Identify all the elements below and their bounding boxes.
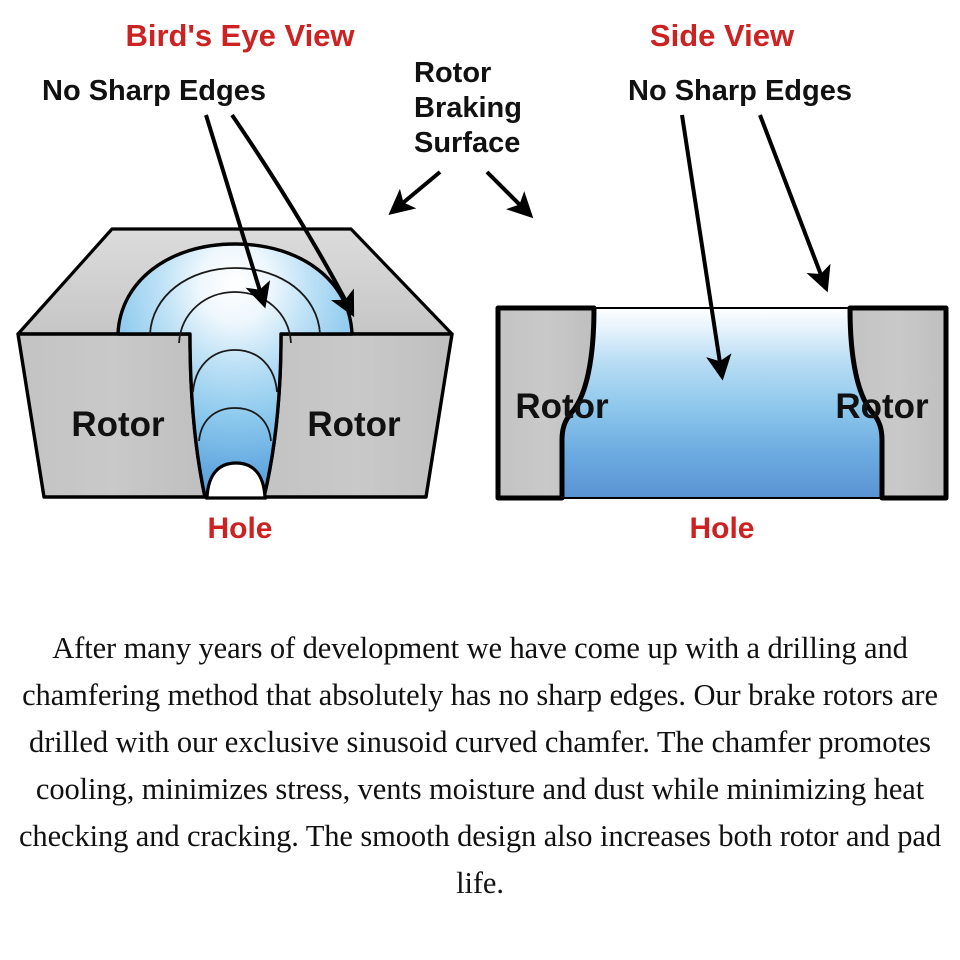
rotor-braking-surface-line3: Surface: [414, 127, 520, 159]
caption-block: After many years of development we have …: [0, 625, 960, 907]
rotor-braking-surface-line2: Braking: [414, 92, 522, 124]
hole-label-side-view: Hole: [689, 512, 754, 545]
birds-eye-block: Rotor Rotor: [18, 229, 452, 498]
rotor-label-left-3d: Rotor: [71, 405, 165, 444]
rotor-label-left-side: Rotor: [515, 387, 609, 426]
rotor-label-right-side: Rotor: [835, 387, 929, 426]
braking-surface-arrow-to-3d: [392, 172, 440, 212]
hole-label-birds-eye: Hole: [207, 512, 272, 545]
rotor-chamfer-diagram: Bird's Eye View Side View: [0, 0, 960, 600]
braking-surface-arrow-to-side: [487, 172, 530, 215]
birds-eye-view-title: Bird's Eye View: [125, 18, 355, 53]
diagram-svg: Bird's Eye View Side View: [0, 0, 960, 600]
no-sharp-edges-arrow-right-2: [760, 115, 826, 288]
side-view-title: Side View: [650, 18, 795, 53]
poster-root: Bird's Eye View Side View: [0, 0, 960, 960]
rotor-label-right-3d: Rotor: [307, 405, 401, 444]
rotor-braking-surface-line1: Rotor: [414, 57, 491, 89]
caption-text: After many years of development we have …: [0, 625, 960, 907]
side-view-block: Rotor Rotor: [498, 308, 946, 498]
no-sharp-edges-label-right: No Sharp Edges: [628, 75, 852, 107]
no-sharp-edges-label-left: No Sharp Edges: [42, 75, 266, 107]
